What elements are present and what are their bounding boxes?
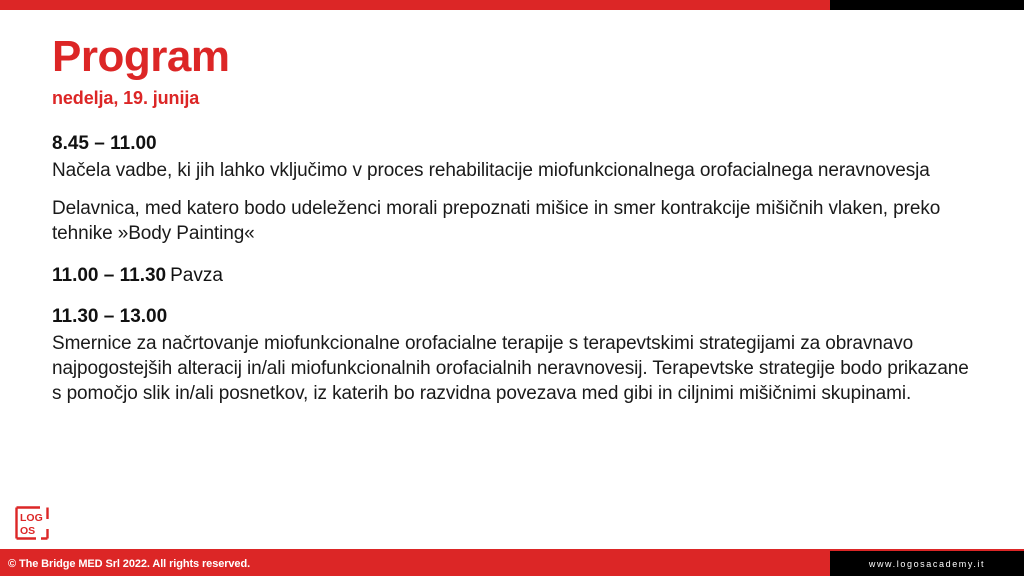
footer-copyright-segment: © The Bridge MED Srl 2022. All rights re… [0, 551, 830, 576]
footer-bar: © The Bridge MED Srl 2022. All rights re… [0, 551, 1024, 576]
schedule-item: 11.00 – 11.30Pavza [52, 263, 982, 289]
schedule-item-paragraph: Smernice za načrtovanje miofunkcionalne … [52, 331, 982, 407]
top-bar-red-segment [0, 0, 830, 10]
schedule-item: 8.45 – 11.00 Načela vadbe, ki jih lahko … [52, 131, 982, 246]
schedule-item-time: 8.45 – 11.00 [52, 133, 157, 154]
page-subtitle-date: nedelja, 19. junija [52, 88, 982, 109]
schedule-item-heading: 11.00 – 11.30Pavza [52, 263, 982, 289]
schedule-item-time: 11.30 – 13.00 [52, 306, 167, 327]
slide-content: Program nedelja, 19. junija 8.45 – 11.00… [52, 34, 982, 423]
schedule-list: 8.45 – 11.00 Načela vadbe, ki jih lahko … [52, 131, 982, 407]
schedule-item: 11.30 – 13.00 Smernice za načrtovanje mi… [52, 304, 982, 406]
footer-website-text[interactable]: www.logosacademy.it [869, 559, 985, 569]
footer-website-segment: www.logosacademy.it [830, 551, 1024, 576]
logo-text-line2: OS [20, 525, 35, 537]
schedule-item-heading: 11.30 – 13.00 [52, 304, 982, 330]
schedule-item-paragraph: Načela vadbe, ki jih lahko vključimo v p… [52, 158, 982, 183]
schedule-item-inline-label: Pavza [170, 265, 223, 286]
schedule-item-heading: 8.45 – 11.00 [52, 131, 982, 157]
schedule-item-paragraph: Delavnica, med katero bodo udeleženci mo… [52, 196, 982, 247]
logo-text-line1: LOG [20, 512, 43, 524]
schedule-item-time: 11.00 – 11.30 [52, 265, 166, 286]
top-bar-black-segment [830, 0, 1024, 10]
logos-logo: LOG OS [14, 505, 54, 541]
footer-copyright-text: © The Bridge MED Srl 2022. All rights re… [0, 558, 250, 570]
top-accent-bar [0, 0, 1024, 10]
page-title: Program [52, 34, 982, 80]
